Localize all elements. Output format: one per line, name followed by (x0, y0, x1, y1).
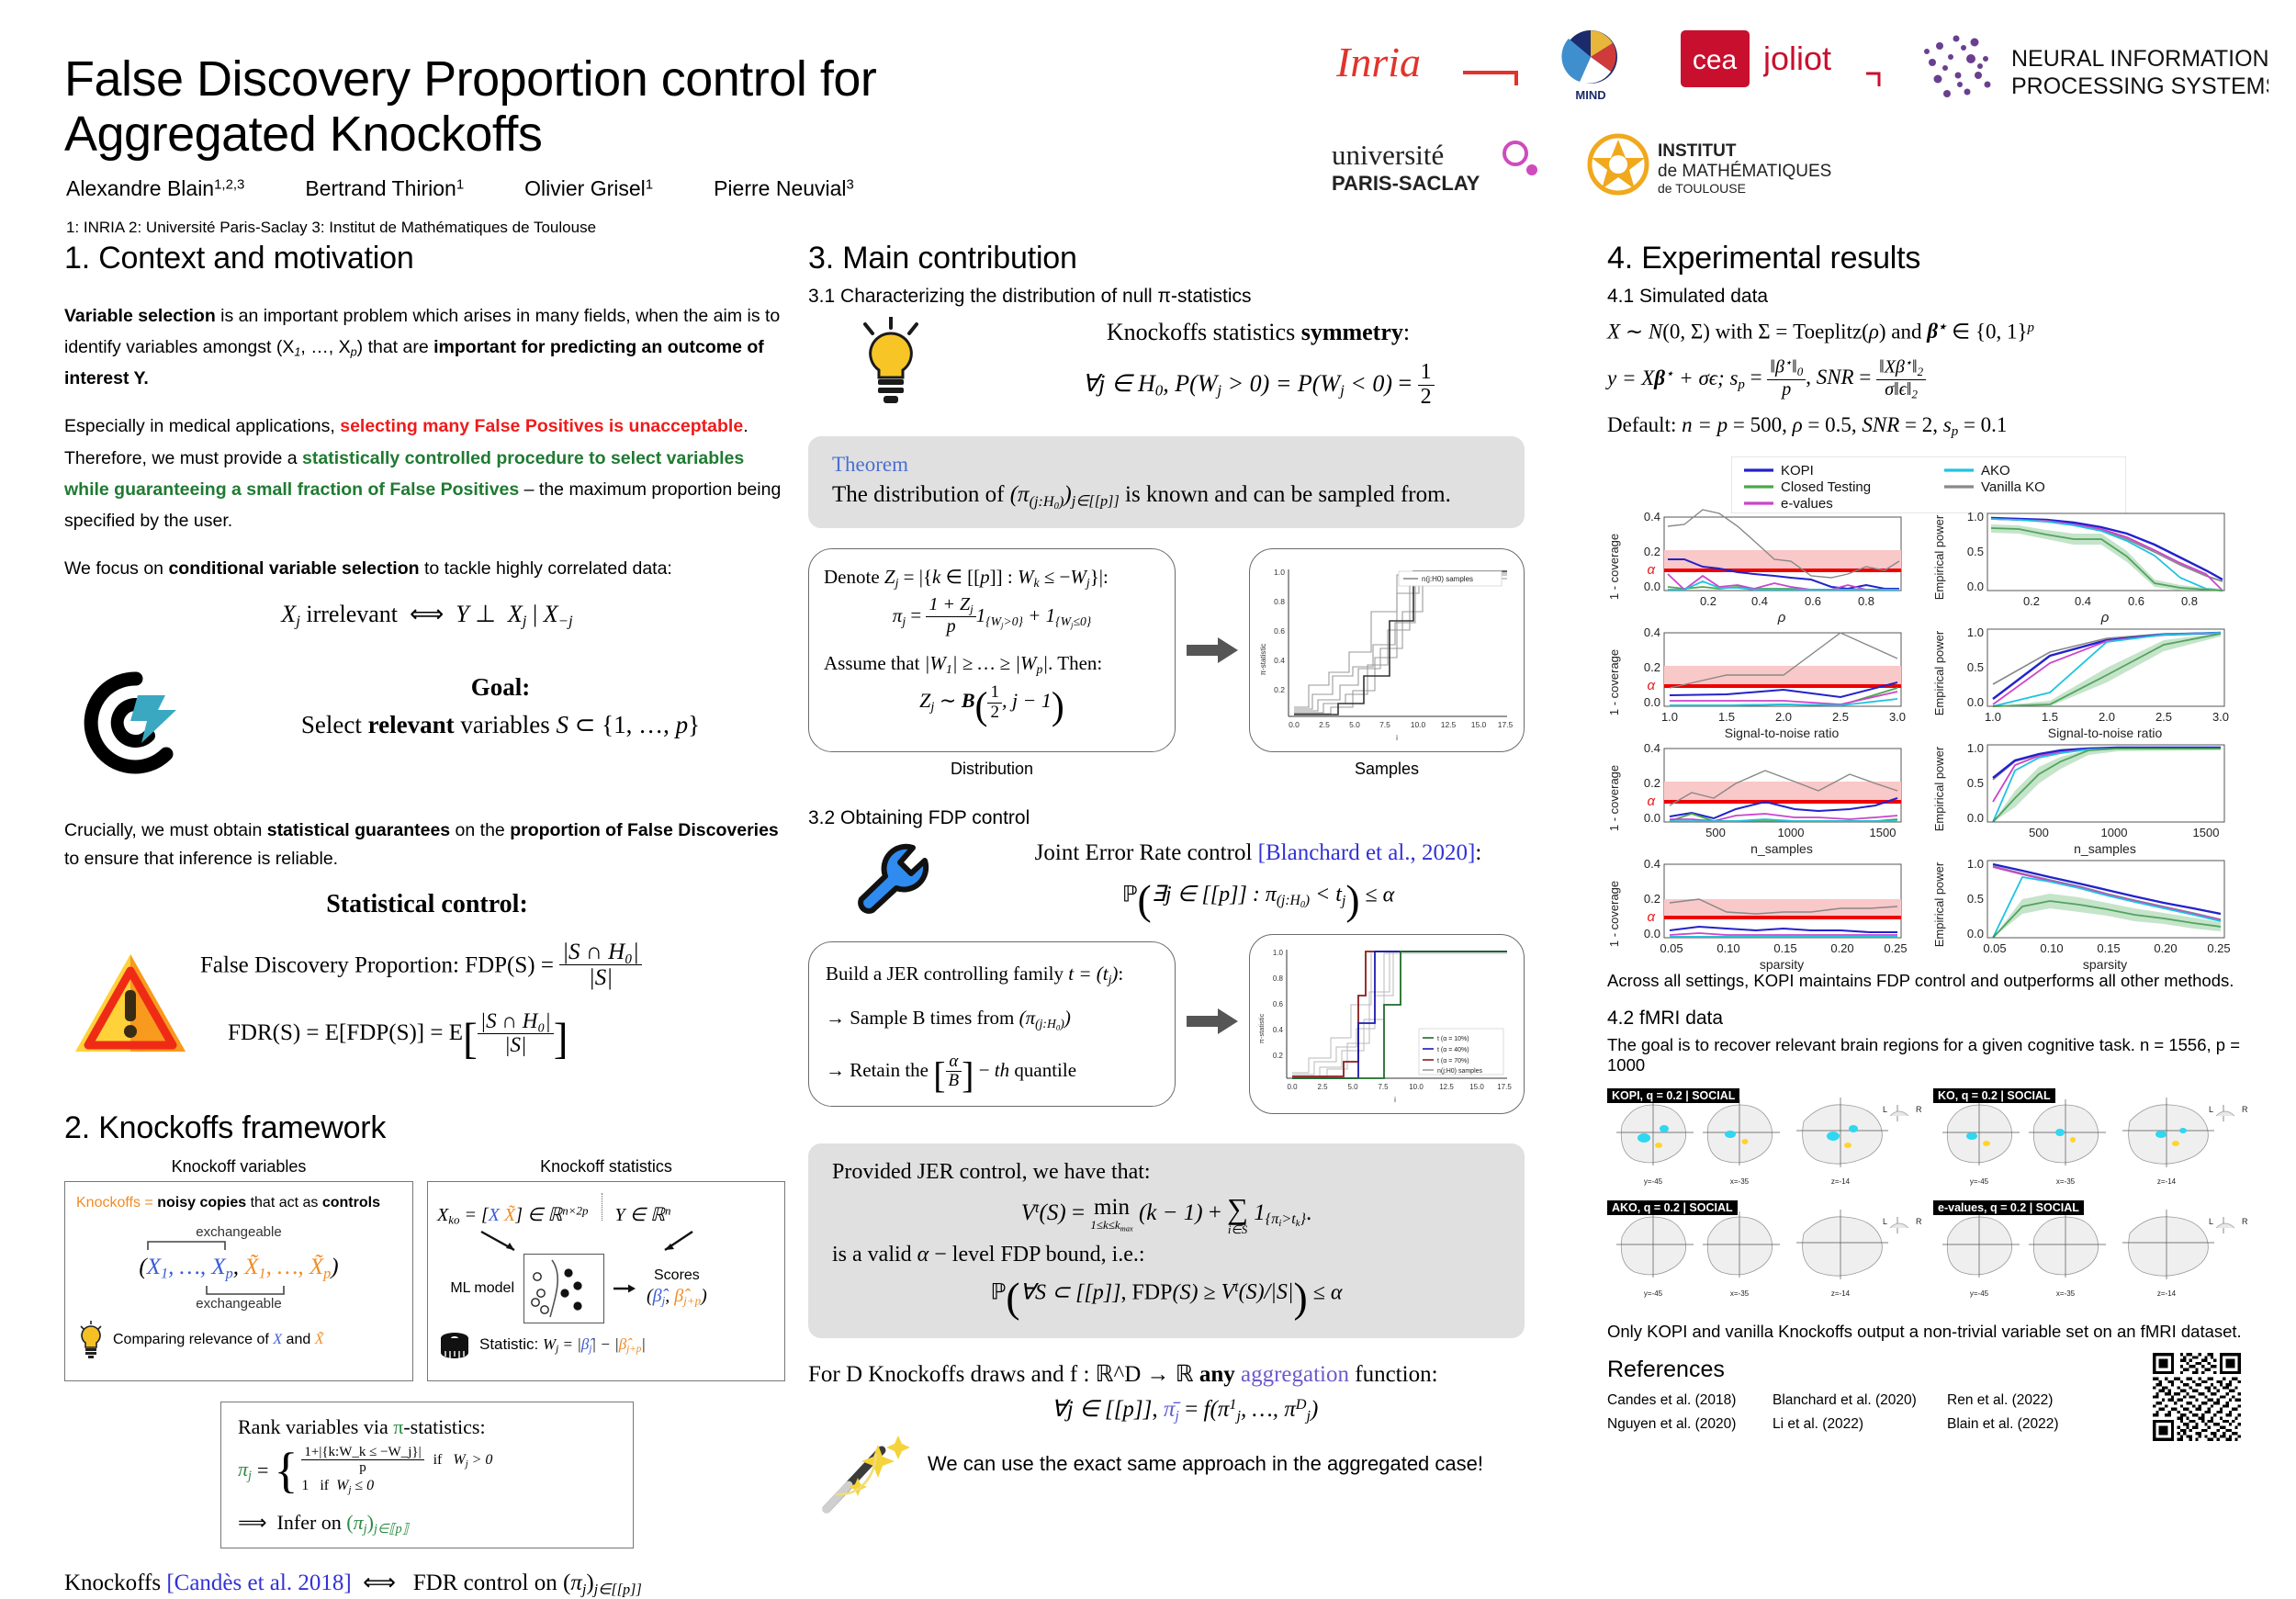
equation-irrelevant: Xj irrelevant ⟺ Y ⊥ Xj | X−j (64, 601, 790, 631)
svg-text:y=-45: y=-45 (1644, 1289, 1663, 1298)
svg-text:0.0: 0.0 (1967, 580, 1984, 593)
svg-text:7.5: 7.5 (1378, 1083, 1389, 1091)
svg-text:π-statistic: π-statistic (1259, 643, 1267, 675)
svg-text:1500: 1500 (2193, 826, 2220, 839)
svg-text:0.0: 0.0 (1289, 720, 1300, 729)
inria-logo: Inria (1336, 32, 1520, 98)
svg-text:n_samples: n_samples (2074, 841, 2136, 856)
aggregated-conclusion: We can use the exact same approach in th… (928, 1452, 1483, 1476)
simulation-charts-grid: 1 - coverage 0.40.20.0 α 0.20.40.60.8 ρ … (1607, 508, 2250, 967)
bracket-bottom-icon (76, 1285, 407, 1296)
rank-pi-statistics-box: Rank variables via π-statistics: πj = { … (220, 1402, 634, 1548)
reference-item[interactable]: Candes et al. (2018) (1607, 1389, 1773, 1413)
svg-text:0.15: 0.15 (2097, 941, 2120, 955)
target-icon (81, 668, 191, 783)
reference-item[interactable]: Blanchard et al. (2020) (1773, 1389, 1947, 1413)
svg-text:0.6: 0.6 (2128, 594, 2144, 608)
jer-family-row: Build a JER controlling family t = (tj):… (808, 941, 1561, 1116)
fmri-description: The goal is to recover relevant brain re… (1607, 1035, 2250, 1075)
statistic-equation: Statistic: Wj = |β̂j| − |β̂j+p| (479, 1335, 646, 1355)
svg-text:y=-45: y=-45 (1644, 1177, 1663, 1186)
svg-text:0.0: 0.0 (1644, 811, 1660, 825)
svg-text:n(j:H0) samples: n(j:H0) samples (1422, 575, 1473, 583)
svg-text:n(j:H0) samples: n(j:H0) samples (1437, 1068, 1483, 1075)
reference-item[interactable]: Li et al. (2022) (1773, 1413, 1947, 1436)
fmri-conclusion: Only KOPI and vanilla Knockoffs output a… (1607, 1322, 2250, 1342)
pi-distribution-equation: πj = 1 + Zjp1{Wj>0} + 1{Wj≤0} (824, 595, 1160, 636)
svg-text:17.5: 17.5 (1497, 1083, 1512, 1091)
fdp-bound-equation: ℙ(∀S ⊂ [[p]], FDP(S) ≥ Vt(S)/|S|) ≤ α (832, 1273, 1501, 1322)
svg-text:PARIS-SACLAY: PARIS-SACLAY (1332, 172, 1480, 195)
svg-text:z=-14: z=-14 (1831, 1177, 1851, 1186)
comparing-relevance-text: Comparing relevance of X and X̃ (113, 1332, 323, 1348)
svg-text:0.4: 0.4 (2075, 594, 2091, 608)
theorem-label: Theorem (832, 453, 1501, 477)
model-line-1: X ∼ N(0, Σ) with Σ = Toeplitz(ρ) and β⋆ … (1607, 319, 2250, 343)
knockoffs-definition: Knockoffs = noisy copies that act as con… (76, 1195, 401, 1211)
denote-z: Denote Zj = |{k ∈ [[p]] : Wk ≤ −Wj}|: (824, 566, 1160, 591)
svg-text:15.0: 15.0 (1469, 1083, 1484, 1091)
theorem-text: The distribution of (π(j:H0))j∈[[p]] is … (832, 482, 1501, 512)
jer-family-quantiles-chart: π-statistic 1.00.80.60.40.2 0.02.55.07.5… (1255, 940, 1518, 1108)
svg-text:Empirical power: Empirical power (1932, 631, 1946, 716)
right-arrow-icon (613, 1280, 637, 1297)
coverage-vs-nsamples-chart: 1 - coverage 0.40.20.0 α 50010001500 n_s… (1607, 739, 1919, 857)
svg-text:0.6: 0.6 (1273, 1000, 1284, 1008)
rank-title: Rank variables via π-statistics: (238, 1415, 616, 1439)
svg-text:0.15: 0.15 (1773, 941, 1796, 955)
svg-text:1.0: 1.0 (1967, 741, 1984, 755)
right-arrow-icon (1187, 636, 1238, 664)
theorem-box: Theorem The distribution of (π(j:H0))j∈[… (808, 436, 1525, 528)
build-line-1: Build a JER controlling family t = (tj): (826, 963, 1158, 987)
author-1: Alexandre Blain1,2,3 (66, 176, 244, 201)
section-2-heading: 2. Knockoffs framework (64, 1110, 790, 1146)
svg-text:0.2: 0.2 (1644, 545, 1660, 558)
provided-jer-line: Provided JER control, we have that: (832, 1160, 1501, 1185)
svg-text:y=-45: y=-45 (1970, 1289, 1989, 1298)
svg-text:0.4: 0.4 (1274, 656, 1285, 665)
svg-text:L: L (1883, 1217, 1887, 1226)
page-title: False Discovery Proportion control for A… (64, 51, 1029, 163)
ml-model-label: ML model (437, 1280, 514, 1297)
svg-text:0.4: 0.4 (1644, 857, 1660, 871)
scores-equation: (β̂j, β̂j+p) (647, 1286, 707, 1309)
fdp-bound-box: Provided JER control, we have that: Vt(S… (808, 1143, 1525, 1338)
svg-text:0.0: 0.0 (1644, 695, 1660, 709)
beta-binomial-equation: Zj ∼ B(12, j − 1) (824, 683, 1160, 729)
svg-text:y=-45: y=-45 (1970, 1177, 1989, 1186)
svg-text:0.5: 0.5 (1967, 545, 1984, 558)
svg-text:α: α (1647, 562, 1655, 578)
column-experimental-results: 4. Experimental results 4.1 Simulated da… (1607, 241, 2250, 1458)
section-4-1-heading: 4.1 Simulated data (1607, 286, 2250, 308)
svg-text:0.25: 0.25 (1884, 941, 1907, 955)
ruler-icon (437, 1331, 472, 1360)
svg-text:2.5: 2.5 (2155, 710, 2172, 724)
svg-text:1.0: 1.0 (1967, 625, 1984, 639)
svg-text:3.0: 3.0 (2212, 710, 2229, 724)
svg-text:1.5: 1.5 (2042, 710, 2058, 724)
jer-title: Joint Error Rate control [Blanchard et a… (983, 840, 1534, 866)
svg-text:0.05: 0.05 (1660, 941, 1683, 955)
xko-equation: Xko = [X X̃] ∈ ℝn×2p (437, 1203, 589, 1228)
svg-text:Inria: Inria (1336, 39, 1421, 85)
svg-text:AKO: AKO (1981, 463, 2010, 479)
affiliations: 1: INRIA 2: Université Paris-Saclay 3: I… (66, 219, 596, 237)
lightbulb-icon (854, 317, 928, 416)
svg-text:i: i (1394, 1096, 1396, 1104)
exchangeable-top-label: exchangeable (76, 1224, 401, 1240)
svg-text:x=-35: x=-35 (2056, 1177, 2076, 1186)
svg-text:0.2: 0.2 (1644, 660, 1660, 674)
svg-text:x=-35: x=-35 (2056, 1289, 2076, 1298)
scores-label: Scores (647, 1267, 707, 1284)
svg-text:R: R (1916, 1217, 1922, 1226)
svg-text:0.25: 0.25 (2207, 941, 2230, 955)
brain-panel-ko: KO, q = 0.2 | SOCIAL y=-45 x=-35 z=-14 (1933, 1088, 2250, 1191)
svg-text:0.0: 0.0 (1644, 580, 1660, 593)
goal-block: Goal: Select relevant variables S ⊂ {1, … (64, 646, 790, 811)
svg-text:L: L (2209, 1105, 2213, 1114)
distribution-box: Denote Zj = |{k ∈ [[p]] : Wk ≤ −Wj}|: πj… (808, 548, 1176, 752)
svg-text:π-statistic: π-statistic (1257, 1013, 1266, 1043)
svg-text:Signal-to-noise ratio: Signal-to-noise ratio (1725, 726, 1840, 740)
svg-text:0.4: 0.4 (1644, 741, 1660, 755)
neurips-line1: NEURAL INFORMATION (2011, 46, 2268, 72)
svg-text:x=-35: x=-35 (1730, 1177, 1750, 1186)
svg-text:i: i (1396, 734, 1398, 742)
svg-text:2.0: 2.0 (2099, 710, 2115, 724)
svg-text:1500: 1500 (1870, 826, 1896, 839)
svg-text:0.0: 0.0 (1967, 927, 1984, 940)
svg-text:KOPI: KOPI (1781, 463, 1814, 479)
cea-logo: cea (1681, 30, 1750, 87)
goal-title: Goal: (225, 673, 776, 702)
svg-text:0.2: 0.2 (1273, 1052, 1284, 1060)
charts-legend: KOPI Closed Testing e-values AKO Vanilla… (1607, 456, 2250, 513)
samples-caption: Samples (1249, 760, 1525, 779)
column-main-contribution: 3. Main contribution 3.1 Characterizing … (808, 241, 1561, 1513)
svg-text:t (α = 70%): t (α = 70%) (1437, 1058, 1469, 1064)
svg-text:0.0: 0.0 (1967, 811, 1984, 825)
samples-plot-box: π-statistic 1.00.80.60.40.2 0.02.55.07.5… (1249, 548, 1525, 752)
svg-text:1 - coverage: 1 - coverage (1607, 649, 1621, 715)
neurips-line2: PROCESSING SYSTEMS (2011, 73, 2268, 99)
references-block: References Candes et al. (2018) Nguyen e… (1607, 1357, 2250, 1458)
mind-logo-text: MIND (1575, 88, 1605, 102)
svg-text:1000: 1000 (1778, 826, 1805, 839)
svg-text:500: 500 (2029, 826, 2049, 839)
power-vs-snr-chart: Empirical power 1.00.50.0 1.01.52.02.53.… (1930, 624, 2243, 741)
ml-scatter-icon (523, 1254, 604, 1323)
jer-quantiles-plot-box: π-statistic 1.00.80.60.40.2 0.02.55.07.5… (1249, 934, 1525, 1114)
section-4-2-heading: 4.2 fMRI data (1607, 1008, 2250, 1030)
aggregation-equation: ∀j ∈ [[p]], π̄j = f(π1j, …, πDj) (808, 1395, 1561, 1425)
paragraph-variable-selection: Variable selection is an important probl… (64, 300, 790, 394)
svg-text:500: 500 (1705, 826, 1726, 839)
svg-text:R: R (1916, 1105, 1922, 1114)
symmetry-equation: ∀j ∈ H0, P(Wj > 0) = P(Wj < 0) = 12 (983, 361, 1534, 410)
svg-text:sparsity: sparsity (1760, 957, 1804, 972)
svg-text:1.0: 1.0 (1661, 710, 1678, 724)
svg-text:0.4: 0.4 (1273, 1026, 1284, 1034)
model-line-2: y = Xβ⋆ + σϵ; sp = ‖β⋆‖0p, SNR = ‖Xβ⋆‖2σ… (1607, 356, 2250, 400)
statistical-control-title: Statistical control: (64, 890, 790, 919)
build-line-3: → Retain the [αB] − th quantile (826, 1053, 1158, 1097)
assume-ordering: Assume that |W1| ≥ … ≥ |Wp|. Then: (824, 652, 1160, 677)
svg-text:7.5: 7.5 (1379, 720, 1390, 729)
author-2: Bertrand Thirion1 (305, 176, 464, 201)
brain-panels-grid: KOPI, q = 0.2 | SOCIAL y=-45 x=-35 z=-14 (1607, 1088, 2250, 1309)
svg-text:1 - coverage: 1 - coverage (1607, 534, 1621, 600)
svg-text:1.0: 1.0 (1967, 857, 1984, 871)
svg-text:5.0: 5.0 (1347, 1083, 1358, 1091)
poster-root: False Discovery Proportion control for A… (0, 0, 2296, 1530)
distribution-samples-row: Denote Zj = |{k ∈ [[p]] : Wk ≤ −Wj}|: πj… (808, 548, 1561, 785)
pi-statistic-samples-chart: π-statistic 1.00.80.60.40.2 0.02.55.07.5… (1257, 557, 1518, 746)
build-family-box: Build a JER controlling family t = (tj):… (808, 941, 1176, 1107)
paragraph-medical-applications: Especially in medical applications, sele… (64, 411, 790, 536)
y-equation: Y ∈ ℝn (615, 1203, 671, 1226)
author-3: Olivier Grisel1 (524, 176, 653, 201)
svg-text:R: R (2242, 1217, 2248, 1226)
svg-text:1000: 1000 (2101, 826, 2128, 839)
arrows-icon (437, 1230, 777, 1254)
svg-text:1 - coverage: 1 - coverage (1607, 881, 1621, 947)
knockoff-statistics-caption: Knockoff statistics (427, 1157, 785, 1177)
svg-text:2.0: 2.0 (1775, 710, 1792, 724)
svg-text:z=-14: z=-14 (2157, 1177, 2177, 1186)
svg-text:Empirical power: Empirical power (1932, 515, 1946, 601)
knockoff-variables-caption: Knockoff variables (64, 1157, 413, 1177)
power-vs-sparsity-chart: Empirical power 1.00.50.0 0.050.100.150.… (1930, 855, 2243, 973)
fdp-fdr-block: False Discovery Proportion: FDP(S) = |S … (64, 919, 790, 1094)
reference-item[interactable]: Nguyen et al. (2020) (1607, 1413, 1773, 1436)
svg-text:0.05: 0.05 (1983, 941, 2006, 955)
author-4: Pierre Neuvial3 (714, 176, 854, 201)
power-vs-nsamples-chart: Empirical power 1.00.50.0 50010001500 n_… (1930, 739, 2243, 857)
exchangeable-bottom-label: exchangeable (76, 1296, 401, 1312)
svg-text:x=-35: x=-35 (1730, 1289, 1750, 1298)
svg-text:Empirical power: Empirical power (1932, 862, 1946, 948)
valid-bound-line: is a valid α − level FDP bound, i.e.: (832, 1243, 1501, 1267)
neurips-logo: NEURAL INFORMATION PROCESSING SYSTEMS (1919, 28, 2268, 119)
svg-text:0.5: 0.5 (1967, 776, 1984, 790)
reference-item[interactable]: Blain et al. (2022) (1947, 1413, 2112, 1436)
power-vs-rho-chart: Empirical power 1.00.50.0 0.20.40.60.8 ρ (1930, 508, 2243, 625)
svg-text:0.0: 0.0 (1967, 695, 1984, 709)
coverage-vs-rho-chart: 1 - coverage 0.40.20.0 α 0.20.40.60.8 ρ (1607, 508, 1919, 625)
svg-text:10.0: 10.0 (1411, 720, 1426, 729)
bracket-top-icon (76, 1240, 407, 1251)
fdp-equation: False Discovery Proportion: FDP(S) = |S … (200, 940, 788, 990)
knockoff-tuple: (X1, …, Xp, X̃1, …, X̃p) (76, 1255, 401, 1283)
svg-text:0.4: 0.4 (1644, 625, 1660, 639)
svg-text:10.0: 10.0 (1409, 1083, 1424, 1091)
aggregation-line: For D Knockoffs draws and f : ℝ^D → ℝ an… (808, 1360, 1561, 1388)
svg-text:α: α (1647, 794, 1655, 809)
svg-text:0.5: 0.5 (1967, 892, 1984, 906)
svg-text:Closed Testing: Closed Testing (1781, 479, 1871, 495)
knockoff-statistics-block: Knockoff statistics Xko = [X X̃] ∈ ℝn×2p… (427, 1157, 785, 1381)
svg-text:z=-14: z=-14 (1831, 1289, 1851, 1298)
svg-text:de TOULOUSE: de TOULOUSE (1658, 181, 1746, 196)
build-line-2: → Sample B times from (π(j:H0)) (826, 1007, 1158, 1031)
svg-text:joliot: joliot (1763, 39, 1831, 77)
svg-text:0.2: 0.2 (1644, 776, 1660, 790)
symmetry-title: Knockoffs statistics symmetry: (983, 319, 1534, 346)
knockoff-variables-block: Knockoff variables Knockoffs = noisy cop… (64, 1157, 413, 1381)
svg-text:α: α (1647, 678, 1655, 693)
institut-mathematiques-toulouse-logo: INSTITUT de MATHÉMATIQUES de TOULOUSE (1584, 129, 1887, 200)
universite-paris-saclay-logo: université PARIS-SACLAY (1332, 133, 1552, 199)
joliot-logo: joliot (1763, 33, 1883, 88)
svg-text:1.5: 1.5 (1718, 710, 1735, 724)
samples-legend: n(j:H0) samples (1399, 571, 1502, 586)
svg-text:0.2: 0.2 (1700, 594, 1716, 608)
mind-logo: MIND (1552, 26, 1630, 104)
section-3-1-heading: 3.1 Characterizing the distribution of n… (808, 286, 1561, 308)
lightbulb-icon (76, 1321, 106, 1359)
coverage-vs-snr-chart: 1 - coverage 0.40.20.0 α 1.01.52.02.53.0… (1607, 624, 1919, 741)
svg-text:R: R (2242, 1105, 2248, 1114)
svg-text:0.20: 0.20 (2154, 941, 2177, 955)
svg-text:2.5: 2.5 (1832, 710, 1849, 724)
svg-text:t (α = 40%): t (α = 40%) (1437, 1047, 1469, 1053)
svg-text:L: L (2209, 1217, 2213, 1226)
svg-text:0.5: 0.5 (1967, 660, 1984, 674)
svg-text:0.2: 0.2 (1644, 892, 1660, 906)
simulation-conclusion: Across all settings, KOPI maintains FDP … (1607, 971, 2250, 991)
coverage-vs-sparsity-chart: 1 - coverage 0.40.20.0 α 0.050.100.150.2… (1607, 855, 1919, 973)
svg-text:0.0: 0.0 (1644, 927, 1660, 940)
wrench-icon (852, 842, 933, 921)
vt-equation: Vt(S) = min1≤k≤kmax (k − 1) + ∑i∈S 1{πi>… (832, 1194, 1501, 1235)
highlight-false-positives: selecting many False Positives is unacce… (340, 416, 743, 436)
brain-panel-kopi: KOPI, q = 0.2 | SOCIAL y=-45 x=-35 z=-14 (1607, 1088, 1924, 1191)
distribution-caption: Distribution (808, 760, 1176, 779)
svg-text:17.5: 17.5 (1498, 720, 1514, 729)
svg-text:15.0: 15.0 (1471, 720, 1487, 729)
candes-reference[interactable]: [Candès et al. 2018] (166, 1571, 351, 1595)
brain-panel-ako: AKO, q = 0.2 | SOCIAL y=-45 x=-35 z=-14 … (1607, 1200, 1924, 1303)
jer-equation: ℙ(∃j ∈ [[p]] : π(j:H0) < tj) ≤ α (983, 875, 1534, 924)
svg-text:0.0: 0.0 (1287, 1083, 1298, 1091)
svg-text:z=-14: z=-14 (2157, 1289, 2177, 1298)
svg-text:t (α = 10%): t (α = 10%) (1437, 1036, 1469, 1042)
svg-text:2.5: 2.5 (1319, 720, 1330, 729)
blanchard-reference[interactable]: [Blanchard et al., 2020] (1258, 840, 1476, 865)
svg-text:cea: cea (1693, 45, 1738, 75)
svg-text:sparsity: sparsity (2083, 957, 2127, 972)
infer-line: ⟹ Infer on (πj)j∈⟦p⟧ (238, 1511, 616, 1537)
column-context-motivation: 1. Context and motivation Variable selec… (64, 241, 790, 1599)
svg-text:2.5: 2.5 (1317, 1083, 1328, 1091)
svg-text:1.0: 1.0 (1985, 710, 2001, 724)
svg-text:5.0: 5.0 (1349, 720, 1360, 729)
svg-text:0.2: 0.2 (1274, 685, 1285, 694)
svg-text:0.4: 0.4 (1644, 510, 1660, 524)
section-4-heading: 4. Experimental results (1607, 241, 2250, 276)
svg-text:0.2: 0.2 (2023, 594, 2040, 608)
jer-legend: t (α = 10%) t (α = 40%) t (α = 70%) n(j:… (1419, 1029, 1503, 1075)
svg-text:Signal-to-noise ratio: Signal-to-noise ratio (2048, 726, 2163, 740)
reference-item[interactable]: Ren et al. (2022) (1947, 1389, 2112, 1413)
brain-panel-evalues: e-values, q = 0.2 | SOCIAL y=-45 x=-35 z… (1933, 1200, 2250, 1303)
magic-wand-icon (817, 1430, 918, 1515)
warning-icon (72, 949, 189, 1061)
section-1-heading: 1. Context and motivation (64, 241, 790, 276)
section-3-2-heading: 3.2 Obtaining FDP control (808, 807, 1561, 829)
svg-text:0.8: 0.8 (1273, 974, 1284, 983)
svg-text:Vanilla KO: Vanilla KO (1981, 479, 2045, 495)
svg-text:INSTITUT: INSTITUT (1658, 141, 1737, 161)
svg-text:0.10: 0.10 (1716, 941, 1739, 955)
svg-text:0.8: 0.8 (1274, 597, 1285, 606)
svg-text:0.8: 0.8 (1858, 594, 1874, 608)
svg-text:1.0: 1.0 (1967, 510, 1984, 524)
section-3-heading: 3. Main contribution (808, 241, 1561, 276)
svg-text:0.20: 0.20 (1830, 941, 1853, 955)
fdr-equation: FDR(S) = E[FDP(S)] = E[|S ∩ H₀||S|] (200, 1010, 788, 1064)
svg-text:0.8: 0.8 (2181, 594, 2198, 608)
svg-text:0.6: 0.6 (1274, 626, 1285, 636)
svg-text:12.5: 12.5 (1439, 1083, 1454, 1091)
knockoffs-fdr-equivalence: Knockoffs [Candès et al. 2018] ⟺ FDR con… (64, 1569, 790, 1599)
svg-text:12.5: 12.5 (1441, 720, 1457, 729)
svg-text:1.0: 1.0 (1273, 949, 1284, 957)
svg-text:université: université (1332, 139, 1444, 171)
svg-text:α: α (1647, 909, 1655, 925)
paragraph-statistical-guarantees: Crucially, we must obtain statistical gu… (64, 816, 790, 873)
svg-text:de MATHÉMATIQUES: de MATHÉMATIQUES (1658, 162, 1831, 181)
paragraph-conditional-selection: We focus on conditional variable selecti… (64, 553, 790, 584)
right-arrow-icon (1187, 1008, 1238, 1035)
svg-text:0.4: 0.4 (1751, 594, 1768, 608)
model-line-3: Default: n = p = 500, ρ = 0.5, SNR = 2, … (1607, 413, 2250, 440)
svg-text:0.10: 0.10 (2040, 941, 2063, 955)
svg-text:1 - coverage: 1 - coverage (1607, 765, 1621, 831)
goal-text: Select relevant variables S ⊂ {1, …, p} (225, 711, 776, 739)
svg-text:L: L (1883, 1105, 1887, 1114)
qr-code[interactable] (2153, 1353, 2241, 1441)
svg-text:n_samples: n_samples (1750, 841, 1813, 856)
svg-text:3.0: 3.0 (1889, 710, 1906, 724)
author-list: Alexandre Blain1,2,3Bertrand Thirion1Oli… (66, 176, 915, 201)
svg-text:1.0: 1.0 (1274, 568, 1285, 577)
svg-text:Empirical power: Empirical power (1932, 747, 1946, 832)
svg-text:0.6: 0.6 (1805, 594, 1821, 608)
